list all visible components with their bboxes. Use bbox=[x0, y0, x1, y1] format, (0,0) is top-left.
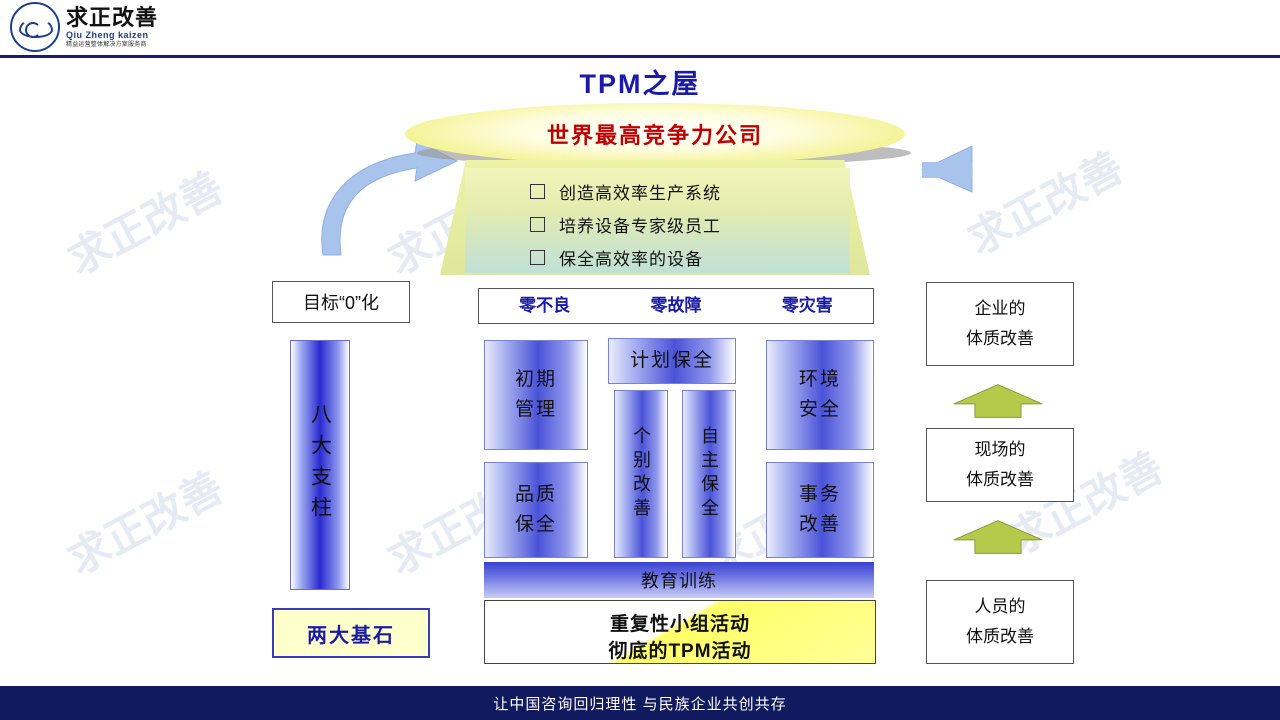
pillar-autonomous-maintenance: 自主保全 bbox=[682, 390, 736, 558]
zero-target-item: 零故障 bbox=[610, 289, 741, 323]
right-box-line: 体质改善 bbox=[966, 622, 1034, 652]
up-arrow-icon bbox=[948, 382, 1048, 420]
box-people: 人员的 体质改善 bbox=[926, 580, 1074, 664]
roof-title: 世界最高竞争力公司 bbox=[405, 118, 905, 150]
slide-header: 求正改善 Qiu Zheng kaizen 精益运营整体解决方案服务商 bbox=[0, 0, 1280, 58]
pillar-early-management: 初期 管理 bbox=[484, 340, 588, 450]
watermark: 求正改善 bbox=[56, 454, 233, 587]
logo-chinese-name: 求正改善 bbox=[66, 7, 158, 29]
logo-tagline: 精益运营整体解决方案服务商 bbox=[66, 42, 158, 48]
watermark: 求正改善 bbox=[956, 134, 1133, 267]
goal-zero-box: 目标“0”化 bbox=[272, 281, 410, 323]
right-box-line: 体质改善 bbox=[966, 465, 1034, 495]
pillar-quality-maintenance: 品质 保全 bbox=[484, 462, 588, 558]
pillar-line: 计划保全 bbox=[630, 346, 714, 376]
logo-english-name: Qiu Zheng kaizen bbox=[66, 31, 158, 40]
box-enterprise: 企业的 体质改善 bbox=[926, 282, 1074, 366]
eight-pillars-column: 八大支柱 bbox=[290, 340, 350, 590]
pillar-environment-safety: 环境 安全 bbox=[766, 340, 874, 450]
foundation-line-2: 彻底的TPM活动 bbox=[485, 636, 875, 663]
right-box-line: 人员的 bbox=[975, 592, 1026, 622]
roof-goal-list: 创造高效率生产系统 培养设备专家级员工 保全高效率的设备 bbox=[530, 175, 860, 274]
foundation-line-1: 重复性小组活动 bbox=[485, 609, 875, 636]
pillar-line: 安全 bbox=[799, 395, 841, 425]
zero-targets-bar: 零不良 零故障 零灾害 bbox=[478, 288, 874, 324]
pillar-line: 事务 bbox=[799, 480, 841, 510]
slide-footer: 让中国咨询回归理性 与民族企业共创共存 bbox=[0, 686, 1280, 720]
checkbox-icon bbox=[530, 184, 545, 199]
watermark: 求正改善 bbox=[56, 154, 233, 287]
roof-goal-item: 创造高效率生产系统 bbox=[530, 175, 860, 208]
pillar-line: 保全 bbox=[515, 510, 557, 540]
right-box-line: 企业的 bbox=[975, 294, 1026, 324]
up-arrow-icon bbox=[948, 518, 1048, 556]
roof-goal-item: 培养设备专家级员工 bbox=[530, 208, 860, 241]
pillar-line: 个别改善 bbox=[632, 426, 650, 522]
roof-goal-label: 创造高效率生产系统 bbox=[559, 179, 721, 204]
pillar-line: 品质 bbox=[515, 480, 557, 510]
pillar-line: 环境 bbox=[799, 365, 841, 395]
pillar-line: 自主保全 bbox=[700, 426, 718, 522]
eight-pillars-label: 八大支柱 bbox=[310, 403, 331, 527]
two-foundations-box: 两大基石 bbox=[272, 608, 430, 658]
box-site: 现场的 体质改善 bbox=[926, 428, 1074, 502]
checkbox-icon bbox=[530, 217, 545, 232]
tpm-foundation-base: 重复性小组活动 彻底的TPM活动 bbox=[484, 600, 876, 664]
roof-goal-label: 保全高效率的设备 bbox=[559, 245, 703, 270]
roof-goal-item: 保全高效率的设备 bbox=[530, 241, 860, 274]
company-logo: 求正改善 Qiu Zheng kaizen 精益运营整体解决方案服务商 bbox=[10, 2, 240, 52]
pillar-planned-maintenance: 计划保全 bbox=[608, 338, 736, 384]
roof-goal-label: 培养设备专家级员工 bbox=[559, 212, 721, 237]
pillar-line: 管理 bbox=[515, 395, 557, 425]
page-title: TPM之屋 bbox=[0, 62, 1280, 101]
pillar-individual-improvement: 个别改善 bbox=[614, 390, 668, 558]
education-training-bar: 教育训练 bbox=[484, 562, 874, 598]
pillar-office-improvement: 事务 改善 bbox=[766, 462, 874, 558]
zero-target-item: 零灾害 bbox=[742, 289, 873, 323]
checkbox-icon bbox=[530, 250, 545, 265]
pillar-line: 改善 bbox=[799, 510, 841, 540]
right-box-line: 现场的 bbox=[975, 435, 1026, 465]
zero-target-item: 零不良 bbox=[479, 289, 610, 323]
pillar-line: 初期 bbox=[515, 365, 557, 395]
swoosh-circle-logo-icon bbox=[10, 2, 60, 52]
right-box-line: 体质改善 bbox=[966, 324, 1034, 354]
